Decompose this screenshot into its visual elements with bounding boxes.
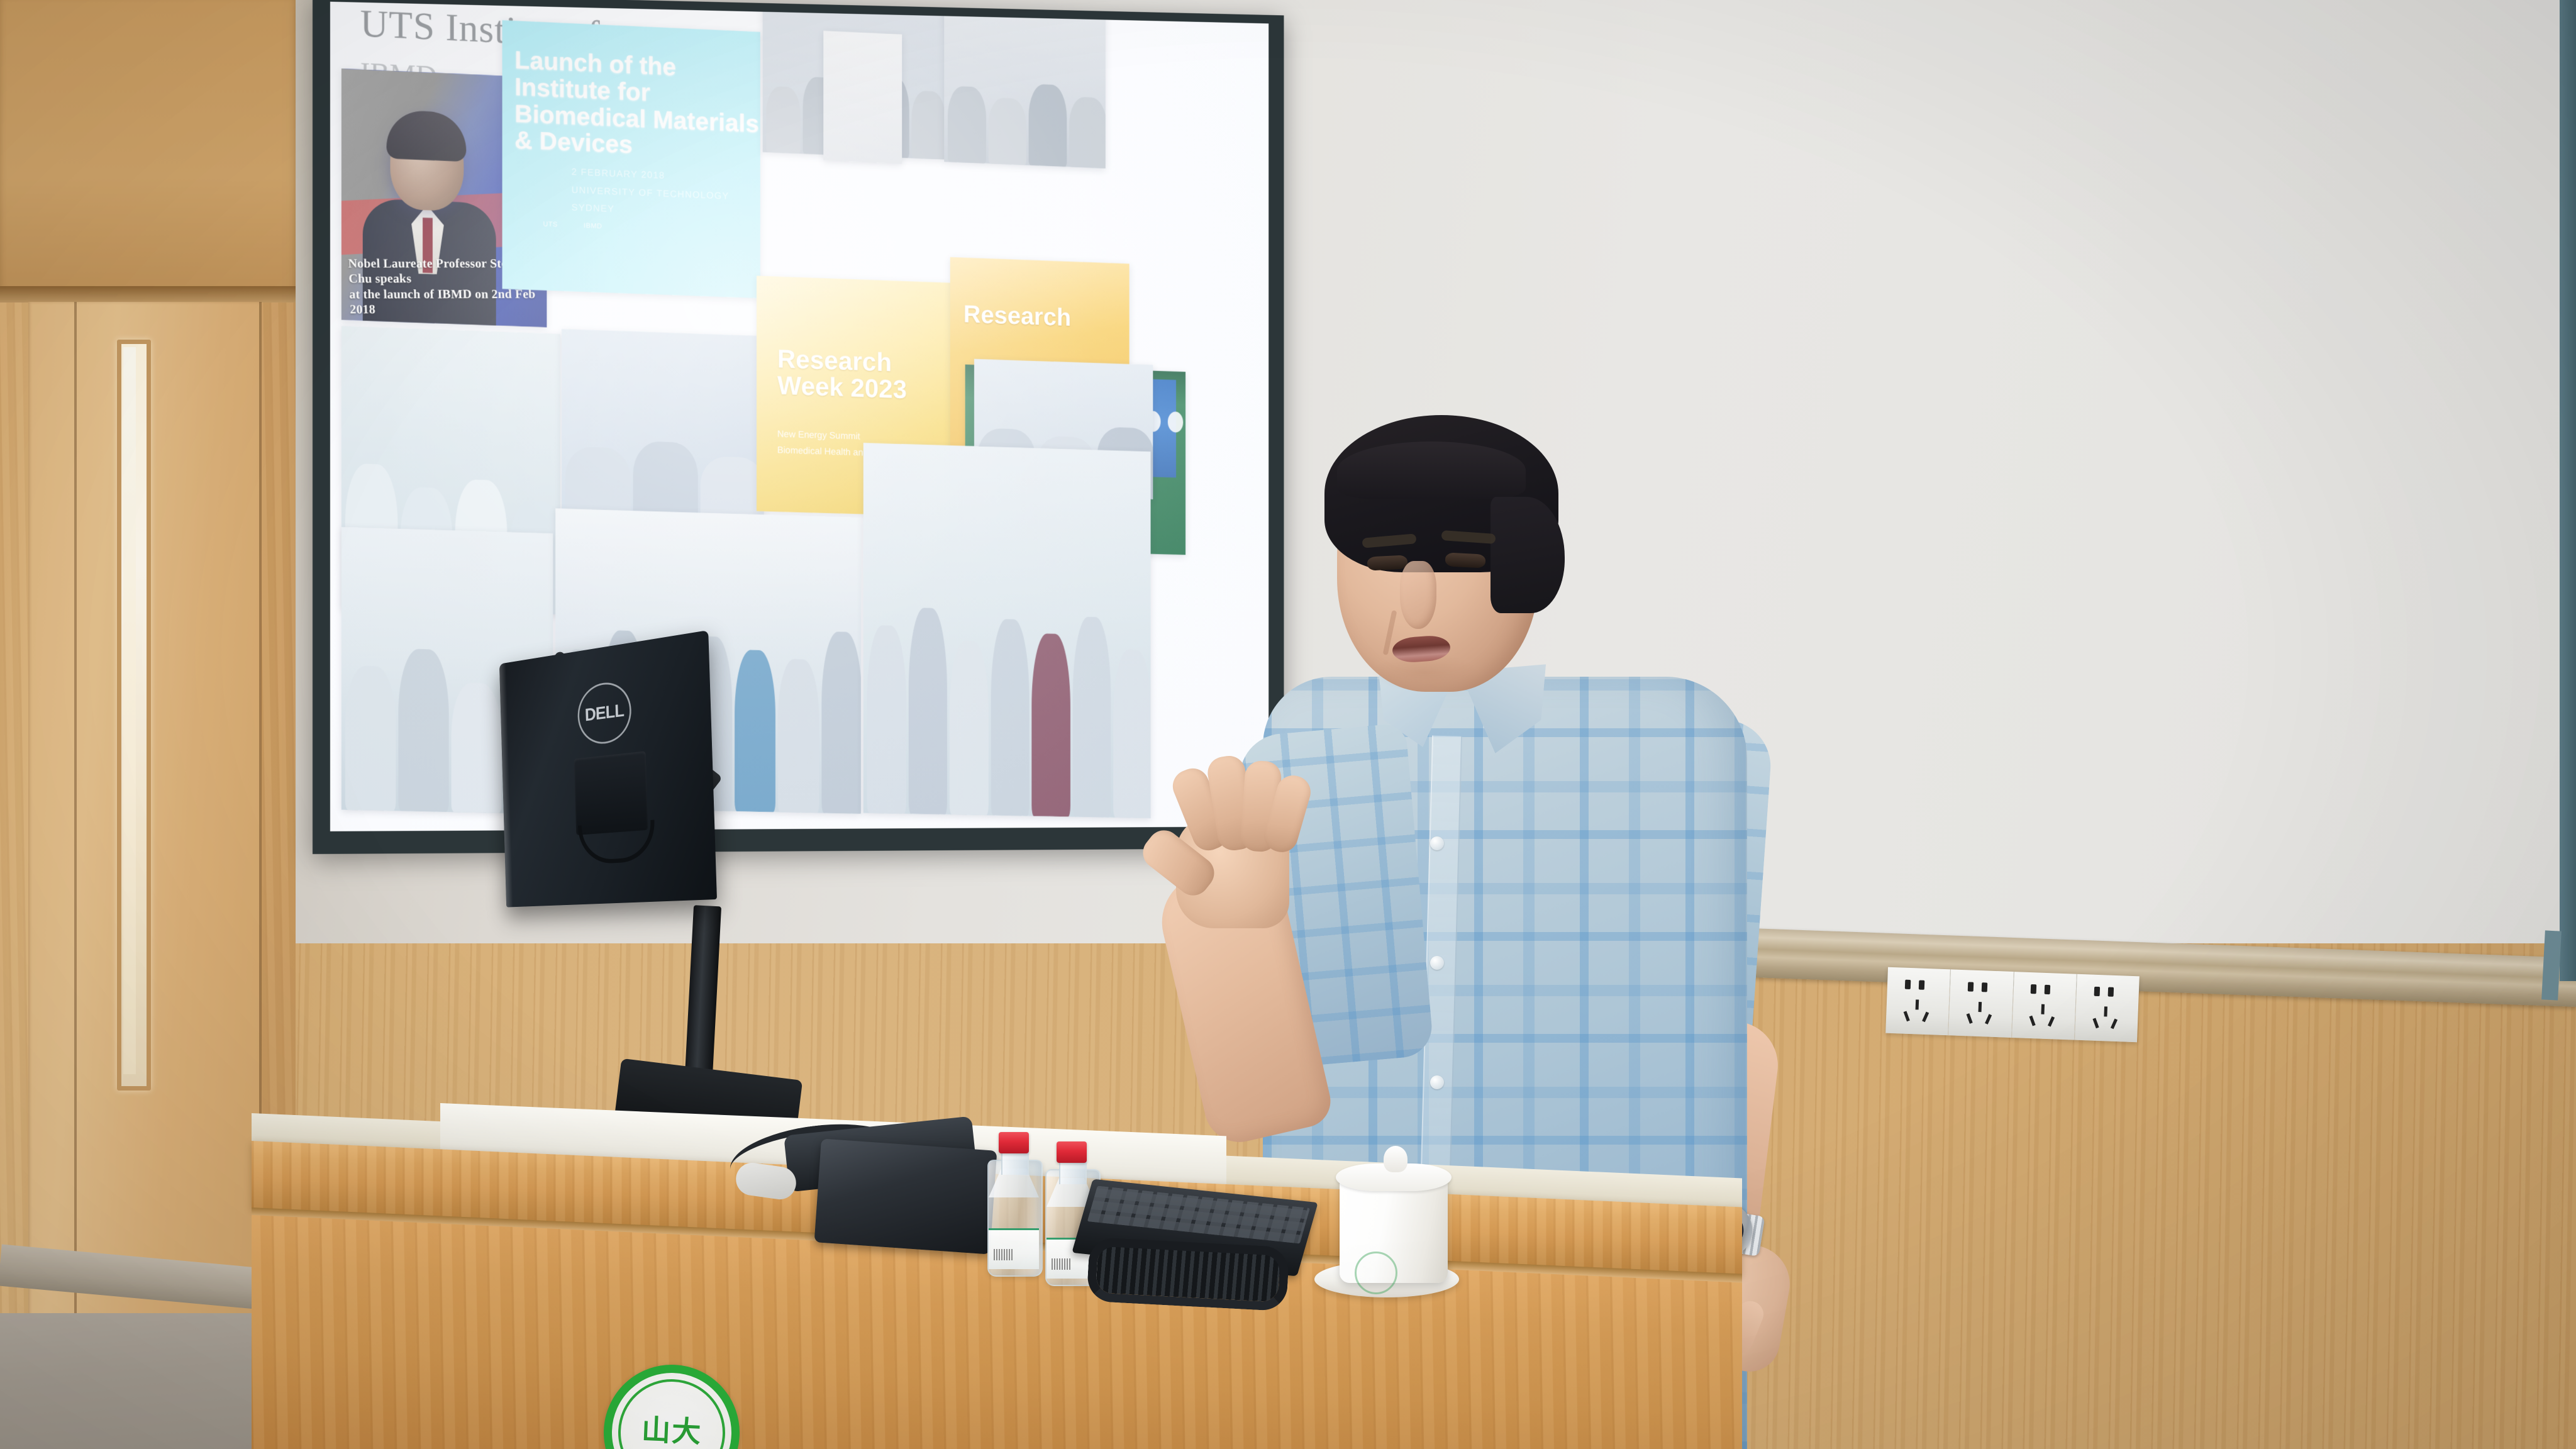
slide-photo-attendees-2	[944, 8, 1106, 169]
research-week-line2: Week 2023	[777, 370, 907, 404]
slide-photo-conference	[562, 329, 764, 528]
wall-power-outlets[interactable]	[1885, 967, 2140, 1043]
wall-edge-strip	[2560, 0, 2576, 981]
launch-title-line2: Biomedical Materials & Devices	[514, 100, 759, 159]
shirt-button-2	[1430, 956, 1444, 970]
door-header-panel	[0, 0, 296, 296]
lidded-mug[interactable]	[1340, 1151, 1448, 1283]
power-outlet-3[interactable]	[2012, 972, 2077, 1040]
presentation-slide: UTS Institute for IBMD Nobel Laureate Pr…	[330, 2, 1269, 831]
shirt-button-3	[1430, 1075, 1444, 1089]
research-week-title: Research Week 2023	[777, 346, 907, 403]
speaker-hair-side	[1491, 497, 1565, 613]
mug-body	[1340, 1177, 1448, 1283]
slide-launch-banner: Launch of the Institute for Biomedical M…	[502, 20, 760, 298]
water-bottle-left[interactable]	[987, 1132, 1040, 1277]
speaker-gesturing-hand	[1147, 742, 1330, 931]
speaker-hair-fringe	[1337, 441, 1526, 499]
attendee-silhouettes-2	[944, 67, 1106, 169]
bottle-cap-right[interactable]	[1057, 1141, 1087, 1163]
speaker-eye-left	[1367, 555, 1407, 570]
launch-title-line1: Launch of the Institute for	[514, 47, 676, 106]
power-outlet-4[interactable]	[2075, 974, 2140, 1043]
slide-photo-easel-sign	[823, 31, 902, 164]
projection-screen-surface: UTS Institute for IBMD Nobel Laureate Pr…	[330, 2, 1269, 831]
launch-banner-meta: 2 FEBRUARY 2018 UNIVERSITY OF TECHNOLOGY…	[572, 164, 760, 224]
group3-figures	[863, 584, 1151, 818]
launch-logo-ibmd: IBMD	[584, 222, 602, 230]
research-card2-title: Research	[963, 301, 1071, 332]
power-outlet-2[interactable]	[1948, 969, 2014, 1038]
dell-monitor[interactable]: DELL	[499, 630, 717, 908]
chu-caption-line1: Nobel Laureate Professor Steven Chu spea…	[348, 257, 526, 286]
launch-banner-title: Launch of the Institute for Biomedical M…	[514, 47, 760, 164]
slide-photo-group-3	[863, 443, 1151, 818]
door-glass-light	[123, 347, 136, 1074]
lecture-hall-photo: UTS Institute for IBMD Nobel Laureate Pr…	[0, 0, 2576, 1449]
speaker-nose	[1400, 561, 1436, 629]
speaker-chin-shadow	[1371, 653, 1478, 692]
launch-banner-logos: UTS IBMD	[543, 221, 602, 231]
launch-logo-uts: UTS	[543, 221, 558, 229]
launch-org: UNIVERSITY OF TECHNOLOGY SYDNEY	[572, 184, 730, 214]
shirt-button-1	[1430, 836, 1444, 850]
projection-screen-frame: UTS Institute for IBMD Nobel Laureate Pr…	[313, 0, 1284, 854]
power-outlet-1[interactable]	[1885, 967, 1951, 1036]
research-week-sub1: New Energy Summit	[777, 429, 860, 442]
dell-logo: DELL	[577, 679, 632, 747]
speaker-eye-right	[1445, 552, 1485, 568]
door-seam-left	[74, 302, 77, 1321]
door-header-edge	[0, 286, 296, 303]
emblem-text: 山大	[641, 1407, 703, 1449]
monitor-cable-clip	[578, 820, 655, 865]
bottle-cap-left[interactable]	[999, 1132, 1029, 1153]
mug-logo	[1355, 1252, 1397, 1294]
chu-caption-line2: at the launch of IBMD on 2nd Feb 2018	[349, 287, 536, 317]
desk-phone[interactable]	[814, 1138, 997, 1254]
coiled-phone-cord	[1087, 1237, 1290, 1312]
bottle-label-left	[989, 1228, 1039, 1269]
launch-date: 2 FEBRUARY 2018	[572, 167, 665, 181]
mug-lid-knob[interactable]	[1384, 1146, 1407, 1172]
